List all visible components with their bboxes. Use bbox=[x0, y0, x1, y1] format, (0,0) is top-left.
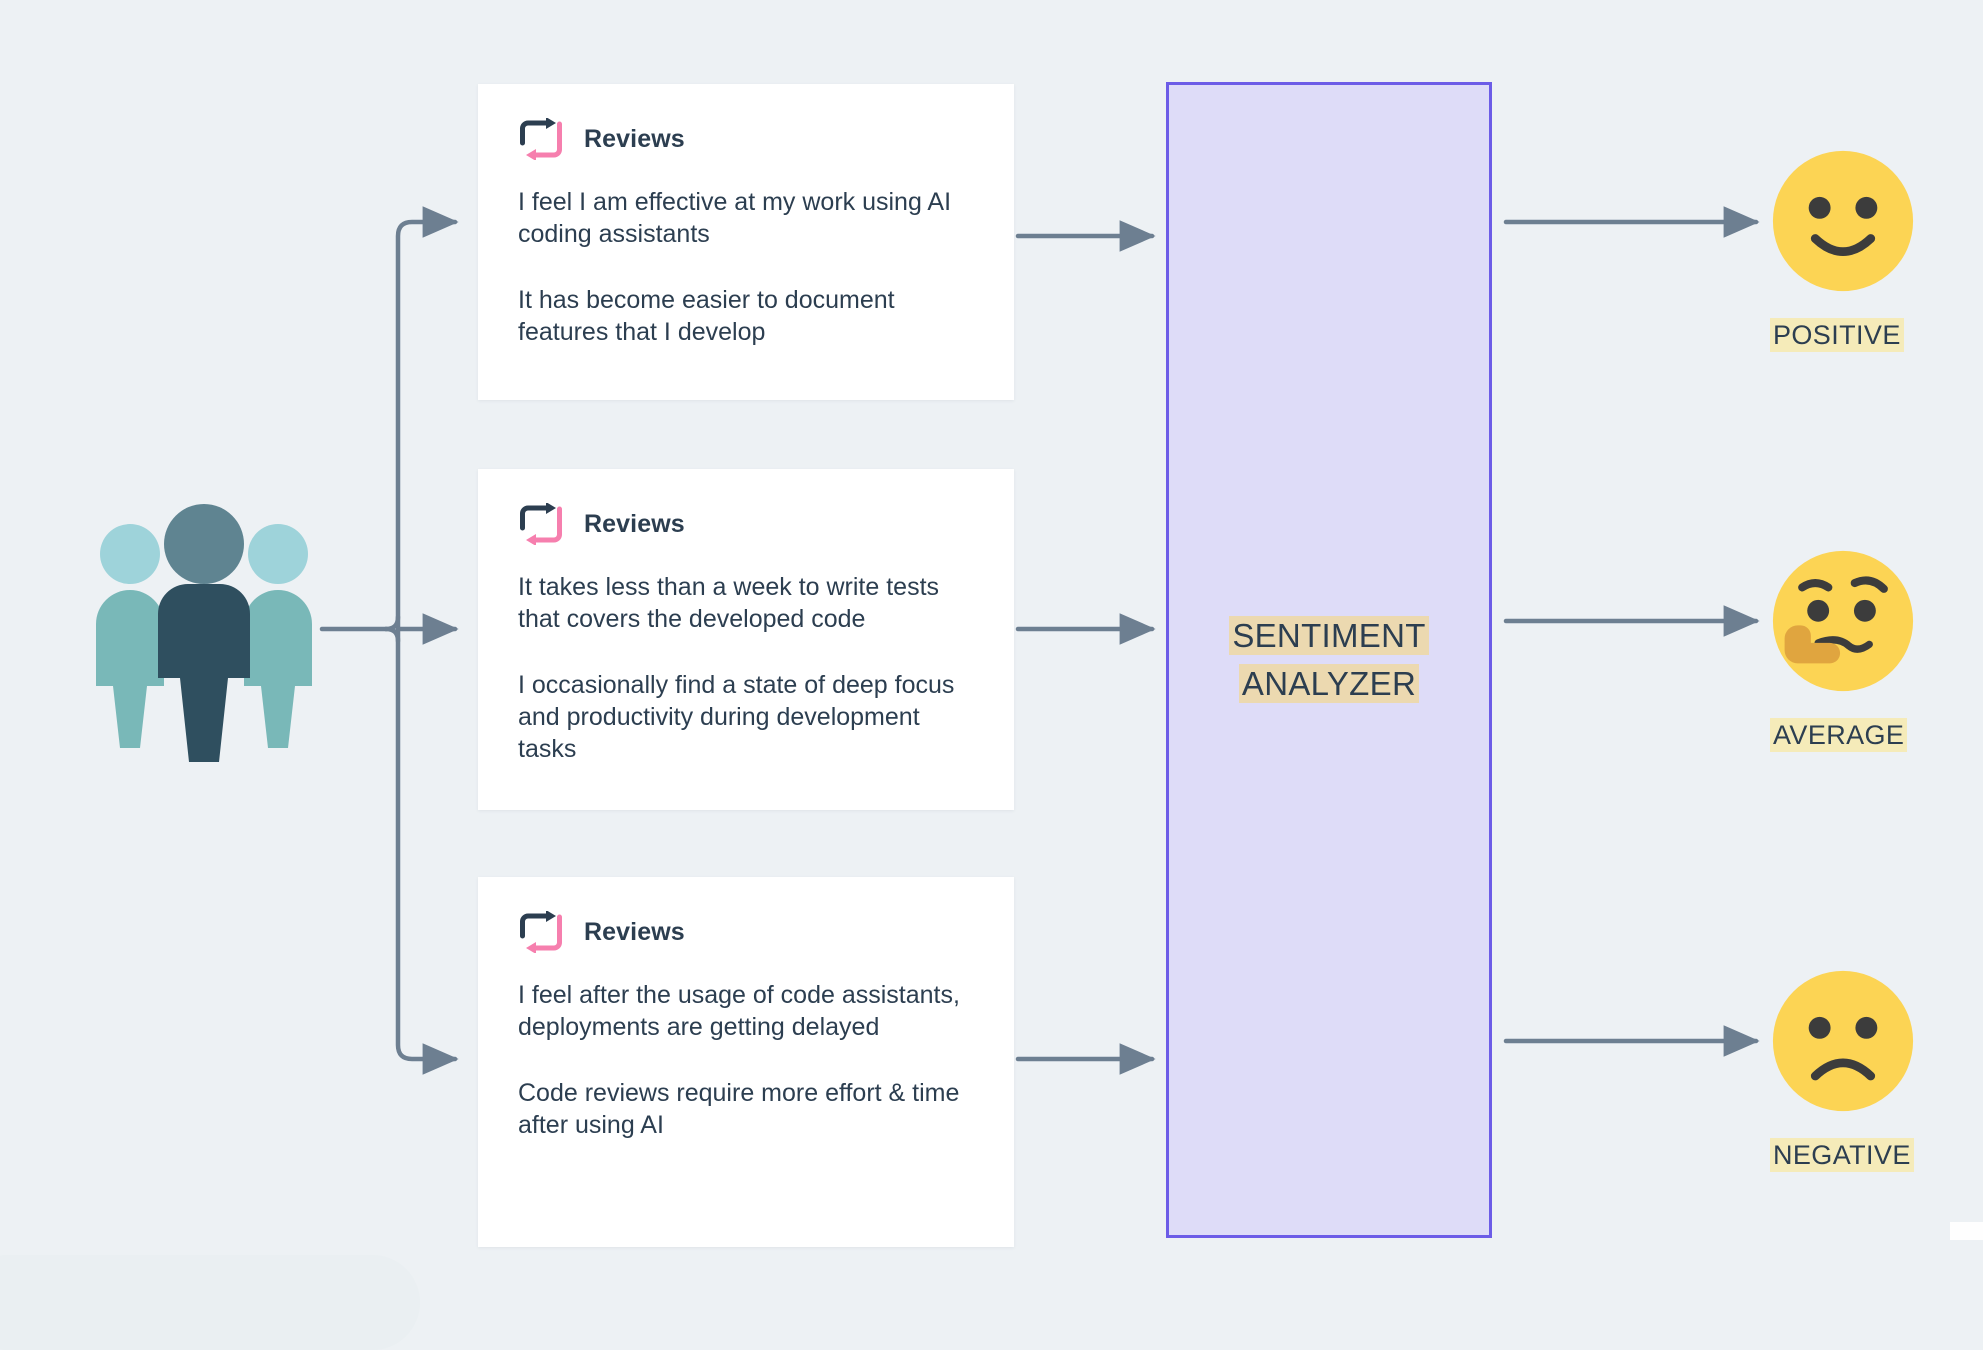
review-card[interactable]: Reviews It takes less than a week to wri… bbox=[478, 469, 1014, 810]
thinking-face-icon bbox=[1770, 548, 1916, 694]
review-card-title: Reviews bbox=[584, 125, 685, 154]
output-positive: POSITIVE bbox=[1770, 148, 1960, 351]
background-decoration-blob bbox=[0, 1255, 420, 1350]
output-label: AVERAGE bbox=[1770, 720, 1907, 751]
output-label-text: AVERAGE bbox=[1770, 718, 1907, 752]
review-card-title: Reviews bbox=[584, 918, 685, 947]
output-label: NEGATIVE bbox=[1770, 1140, 1914, 1171]
output-label: POSITIVE bbox=[1770, 320, 1904, 351]
repeat-icon bbox=[518, 118, 564, 160]
review-card-title: Reviews bbox=[584, 510, 685, 539]
background-corner-accent bbox=[1950, 1222, 1983, 1240]
sentiment-analyzer-box[interactable]: SENTIMENT ANALYZER bbox=[1166, 82, 1492, 1238]
people-group-svg bbox=[82, 498, 326, 762]
review-card[interactable]: Reviews I feel I am effective at my work… bbox=[478, 84, 1014, 400]
diagram-canvas: Reviews I feel I am effective at my work… bbox=[0, 0, 1983, 1343]
sentiment-analyzer-label: SENTIMENT ANALYZER bbox=[1229, 612, 1428, 708]
output-negative: NEGATIVE bbox=[1770, 968, 1960, 1171]
analyzer-line-2: ANALYZER bbox=[1239, 664, 1419, 703]
review-card-body: I feel I am effective at my work using A… bbox=[518, 186, 974, 348]
review-text: It takes less than a week to write tests… bbox=[518, 571, 974, 635]
review-text: Code reviews require more effort & time … bbox=[518, 1077, 974, 1141]
smiling-face-icon bbox=[1770, 148, 1916, 294]
repeat-icon bbox=[518, 911, 564, 953]
review-card[interactable]: Reviews I feel after the usage of code a… bbox=[478, 877, 1014, 1247]
repeat-icon bbox=[518, 503, 564, 545]
people-group-icon bbox=[82, 498, 326, 762]
output-label-text: NEGATIVE bbox=[1770, 1138, 1914, 1172]
output-label-text: POSITIVE bbox=[1770, 318, 1904, 352]
frowning-face-icon bbox=[1770, 968, 1916, 1114]
review-text: I feel after the usage of code assistant… bbox=[518, 979, 974, 1043]
analyzer-line-1: SENTIMENT bbox=[1229, 616, 1428, 655]
review-card-header: Reviews bbox=[518, 911, 974, 953]
review-text: I occasionally find a state of deep focu… bbox=[518, 669, 974, 765]
review-card-header: Reviews bbox=[518, 503, 974, 545]
review-text: It has become easier to document feature… bbox=[518, 284, 974, 348]
review-card-body: I feel after the usage of code assistant… bbox=[518, 979, 974, 1141]
review-card-header: Reviews bbox=[518, 118, 974, 160]
review-text: I feel I am effective at my work using A… bbox=[518, 186, 974, 250]
review-card-body: It takes less than a week to write tests… bbox=[518, 571, 974, 765]
output-average: AVERAGE bbox=[1770, 548, 1960, 751]
